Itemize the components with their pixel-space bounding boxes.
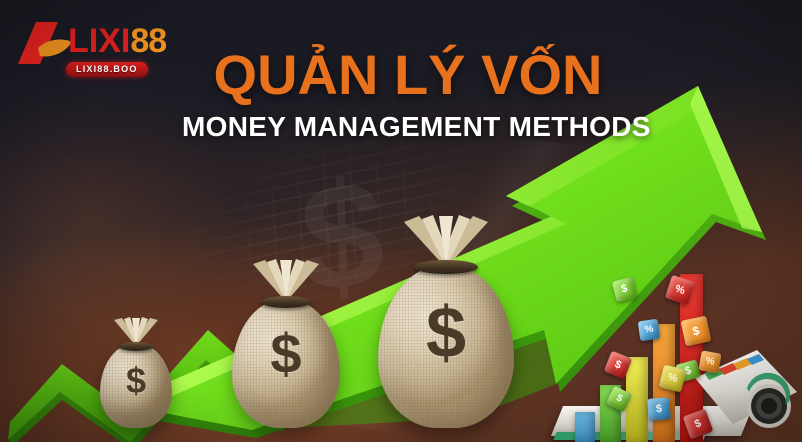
bag-tie — [119, 342, 153, 351]
die-percent-blue: % — [638, 319, 661, 342]
chart-bar-1 — [575, 412, 595, 442]
logo-wordmark: LIXI88 — [68, 24, 166, 58]
die-dollar-orange: $ — [681, 316, 712, 347]
bag-tie — [261, 296, 311, 308]
money-bag-large: $ — [378, 214, 514, 428]
logo-domain-badge: LIXI88.BOO — [66, 62, 148, 77]
promo-banner: $ — [0, 0, 802, 442]
money-bag-small: $ — [100, 316, 172, 428]
site-logo[interactable]: LIXI88 LIXI88.BOO — [14, 16, 186, 86]
page-subtitle: MONEY MANAGEMENT METHODS — [182, 113, 634, 141]
logo-brand-text: LIXI — [68, 22, 130, 60]
bag-dollar-icon: $ — [232, 321, 340, 386]
logo-brand-number: 88 — [130, 22, 166, 60]
die-percent-orange2: % — [698, 350, 721, 373]
bag-dollar-icon: $ — [100, 360, 172, 402]
logo-mark-icon — [14, 20, 76, 66]
die-dollar-blue: $ — [647, 397, 671, 421]
bag-tie — [414, 260, 478, 274]
money-bag-medium: $ — [232, 258, 340, 428]
page-title: QUẢN LÝ VỐN — [182, 46, 634, 103]
headline-block: QUẢN LÝ VỐN MONEY MANAGEMENT METHODS — [182, 46, 634, 141]
bag-dollar-icon: $ — [378, 292, 514, 374]
